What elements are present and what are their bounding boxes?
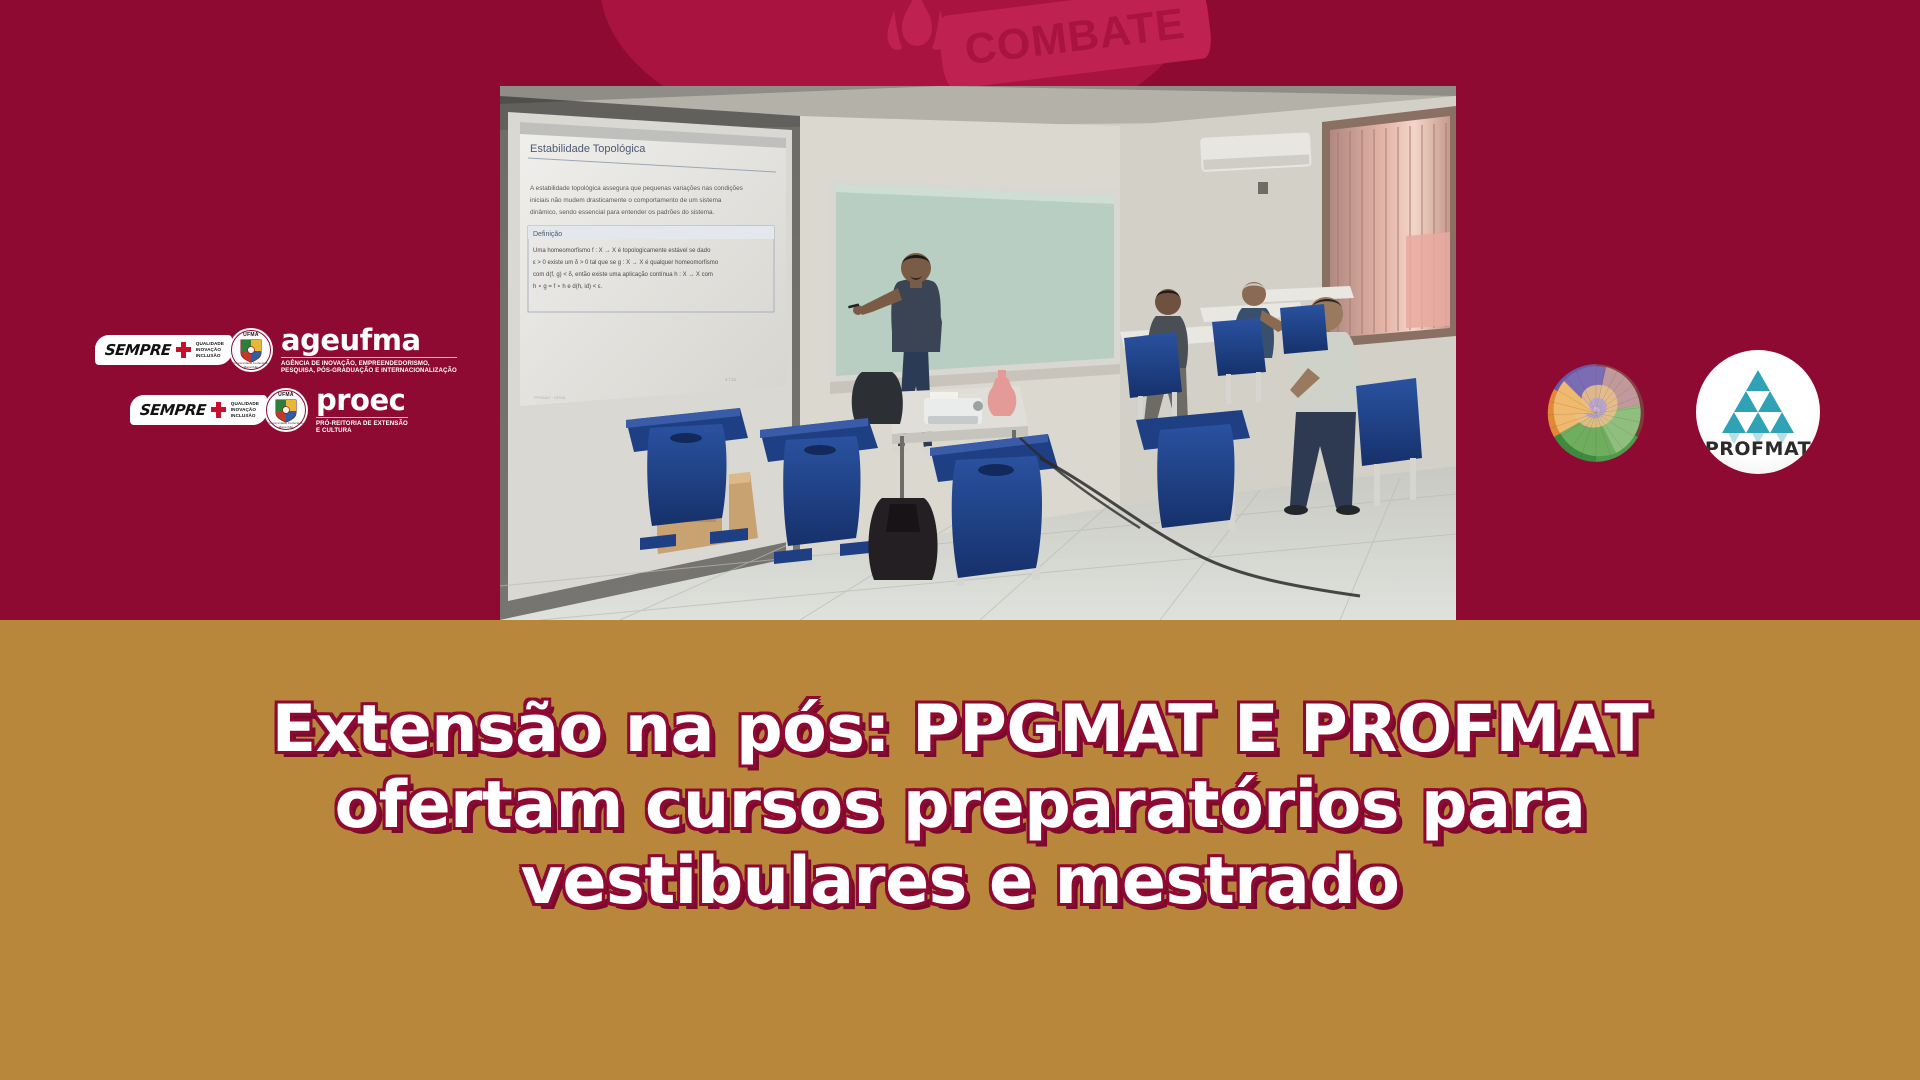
top-crimson-area: UFMA COMBATE: [0, 0, 1920, 620]
ufma-seal-icon: UFMA Universidade Federal do Maranhão: [229, 328, 273, 372]
watermark-ribbon-text: COMBATE: [936, 0, 1213, 90]
watermark-ribbon: COMBATE: [936, 0, 1213, 90]
svg-text:dinâmico, sendo essencial para: dinâmico, sendo essencial para entender …: [530, 209, 715, 216]
ufma-seal-bottom-label: Universidade Federal do Maranhão: [229, 361, 273, 369]
ageufma-wordmark: ageufma: [281, 325, 457, 355]
sempre-sublabel: QUALIDADE INOVAÇÃO INCLUSÃO: [231, 401, 259, 419]
svg-text:A estabilidade topológica asse: A estabilidade topológica assegura que p…: [530, 185, 743, 192]
logo-ageufma: SEMPRE QUALIDADE INOVAÇÃO INCLUSÃO UFMA: [95, 325, 457, 375]
sempre-mais-badge: SEMPRE QUALIDADE INOVAÇÃO INCLUSÃO: [130, 395, 267, 425]
projected-slide: Estabilidade Topológica A estabilidade t…: [520, 122, 786, 406]
svg-text:PPGMAT · UFMA: PPGMAT · UFMA: [534, 395, 566, 400]
profmat-logo: PROFMAT: [1696, 350, 1820, 474]
gold-band: Extensão na pós: PPGMAT E PROFMAT oferta…: [0, 620, 1920, 1080]
logo-proec: SEMPRE QUALIDADE INOVAÇÃO INCLUSÃO UFMA: [130, 385, 408, 435]
brand-divider: [316, 417, 408, 418]
svg-text:com d(f, g) < δ, então existe: com d(f, g) < δ, então existe uma aplica…: [533, 272, 713, 278]
svg-text:Uma homeomorfismo f : X → X é: Uma homeomorfismo f : X → X é topologica…: [533, 248, 711, 254]
svg-text:h ∘ g = f ∘ h e d(h, id) < ε.: h ∘ g = f ∘ h e d(h, id) < ε.: [533, 284, 603, 290]
sempre-mais-badge: SEMPRE QUALIDADE INOVAÇÃO INCLUSÃO: [95, 335, 232, 365]
svg-text:ε > 0 existe um δ > 0 tal que: ε > 0 existe um δ > 0 tal que se g : X →…: [533, 260, 719, 266]
page-title: Extensão na pós: PPGMAT E PROFMAT oferta…: [0, 692, 1920, 920]
svg-text:iniciais não mudem drasticamen: iniciais não mudem drasticamente o compo…: [530, 197, 722, 204]
ufma-seal-icon: UFMA Universidade Federal do Maranhão: [264, 388, 308, 432]
fibonacci-spiral-logo: [1546, 363, 1646, 463]
ageufma-description: AGÊNCIA DE INOVAÇÃO, EMPREENDEDORISMO, P…: [281, 360, 457, 375]
plus-icon: [211, 402, 226, 418]
svg-text:Definição: Definição: [533, 231, 562, 238]
sempre-label: SEMPRE: [104, 341, 172, 359]
proec-description: PRÓ-REITORIA DE EXTENSÃO E CULTURA: [316, 420, 408, 435]
plus-icon: [176, 342, 191, 358]
classroom-photo-graphic: Estabilidade Topológica A estabilidade t…: [500, 86, 1456, 620]
brand-divider: [281, 357, 457, 358]
event-banner: UFMA COMBATE: [0, 0, 1920, 1080]
ufma-seal-top-label: UFMA: [264, 392, 308, 398]
classroom-photo: Estabilidade Topológica A estabilidade t…: [500, 86, 1456, 620]
ufma-seal-top-label: UFMA: [229, 332, 273, 338]
svg-text:Estabilidade Topológica: Estabilidade Topológica: [530, 143, 646, 155]
profmat-wordmark: PROFMAT: [1696, 438, 1820, 460]
flame-icon: [872, 0, 962, 70]
sempre-label: SEMPRE: [139, 401, 207, 419]
proec-wordmark: proec: [316, 385, 408, 415]
sempre-sublabel: QUALIDADE INOVAÇÃO INCLUSÃO: [196, 341, 224, 359]
svg-text:4 / 21: 4 / 21: [725, 377, 737, 382]
ufma-seal-bottom-label: Universidade Federal do Maranhão: [264, 421, 308, 429]
